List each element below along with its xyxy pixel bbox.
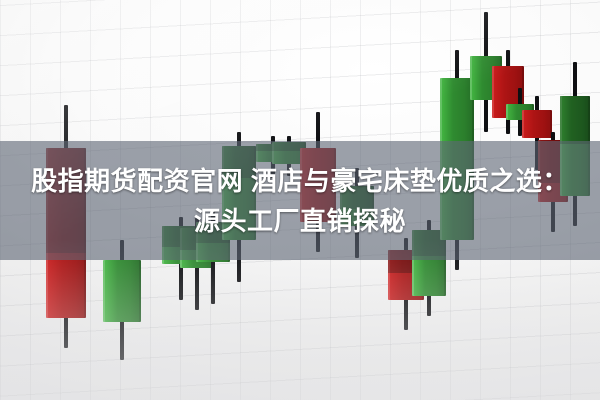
candle-body bbox=[103, 260, 141, 322]
headline-text: 股指期货配资官网 酒店与豪宅床垫优质之选：源头工厂直销探秘 bbox=[20, 161, 580, 241]
headline-banner: 股指期货配资官网 酒店与豪宅床垫优质之选：源头工厂直销探秘 bbox=[0, 141, 600, 260]
screenshot-root: 股指期货配资官网 酒店与豪宅床垫优质之选：源头工厂直销探秘 bbox=[0, 0, 600, 400]
